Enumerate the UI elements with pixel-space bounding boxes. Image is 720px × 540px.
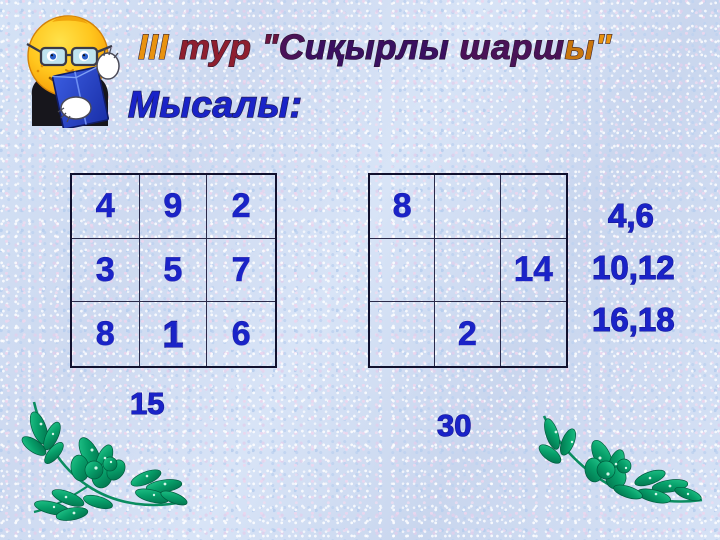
number-bank-row: 16,18 [592,294,675,346]
cell-value: 4 [96,189,115,223]
grid-cell[interactable]: 7 [207,239,275,303]
floral-sprig-left-icon [6,398,221,538]
title-part-3: " [262,28,279,67]
grid-cell[interactable]: 8 [370,175,435,239]
cell-value: 2 [458,317,477,351]
cell-value: 5 [164,253,183,287]
title-part-1: III [138,28,179,67]
cell-value: 8 [393,189,412,223]
grid-cell[interactable] [435,239,500,303]
title-part-5: иқырлы [305,28,450,67]
floral-sprig-right-icon [530,408,720,540]
grid-cell[interactable]: 8 [72,302,140,366]
grid-cell[interactable] [501,175,566,239]
grid-cell[interactable]: 1 [140,302,208,366]
cell-value: 8 [96,317,115,351]
number-bank: 4,6 10,12 16,18 [592,190,675,346]
cell-value: 2 [232,189,251,223]
cell-value: 9 [164,189,183,223]
cell-value: 14 [514,252,553,287]
title-part-7: ы [565,28,595,67]
page-title: III тур "Сиқырлы шаршы" [138,26,612,74]
task-grid-sum: 30 [437,408,471,444]
grid-cell[interactable]: 2 [207,175,275,239]
grid-cell[interactable]: 9 [140,175,208,239]
subtitle-example-label: Мысалы: [128,84,302,126]
slide-canvas: III тур "Сиқырлы шаршы" Мысалы: 4 9 2 3 … [0,0,720,540]
grid-cell[interactable]: 4 [72,175,140,239]
grid-cell[interactable] [370,239,435,303]
grid-cell[interactable]: 2 [435,302,500,366]
grid-cell[interactable]: 3 [72,239,140,303]
grid-cell[interactable] [435,175,500,239]
cell-value: 7 [232,253,251,287]
title-part-6: шарш [449,28,564,67]
cell-value-emphasized: 1 [163,316,184,353]
grid-cell[interactable] [501,302,566,366]
magic-square-task-grid: 8 14 2 [368,173,568,368]
title-part-4: С [279,28,305,67]
cell-value: 6 [232,317,251,351]
grid-cell[interactable]: 14 [501,239,566,303]
magic-square-example-grid: 4 9 2 3 5 7 8 1 6 [70,173,277,368]
grid-cell[interactable]: 6 [207,302,275,366]
cell-value: 3 [96,253,115,287]
grid-cell[interactable]: 5 [140,239,208,303]
grid-cell[interactable] [370,302,435,366]
title-part-2: тур [179,28,262,67]
title-part-8: " [595,28,612,67]
number-bank-row: 10,12 [592,242,675,294]
number-bank-row: 4,6 [592,190,675,242]
smiley-with-book-icon [8,8,126,128]
